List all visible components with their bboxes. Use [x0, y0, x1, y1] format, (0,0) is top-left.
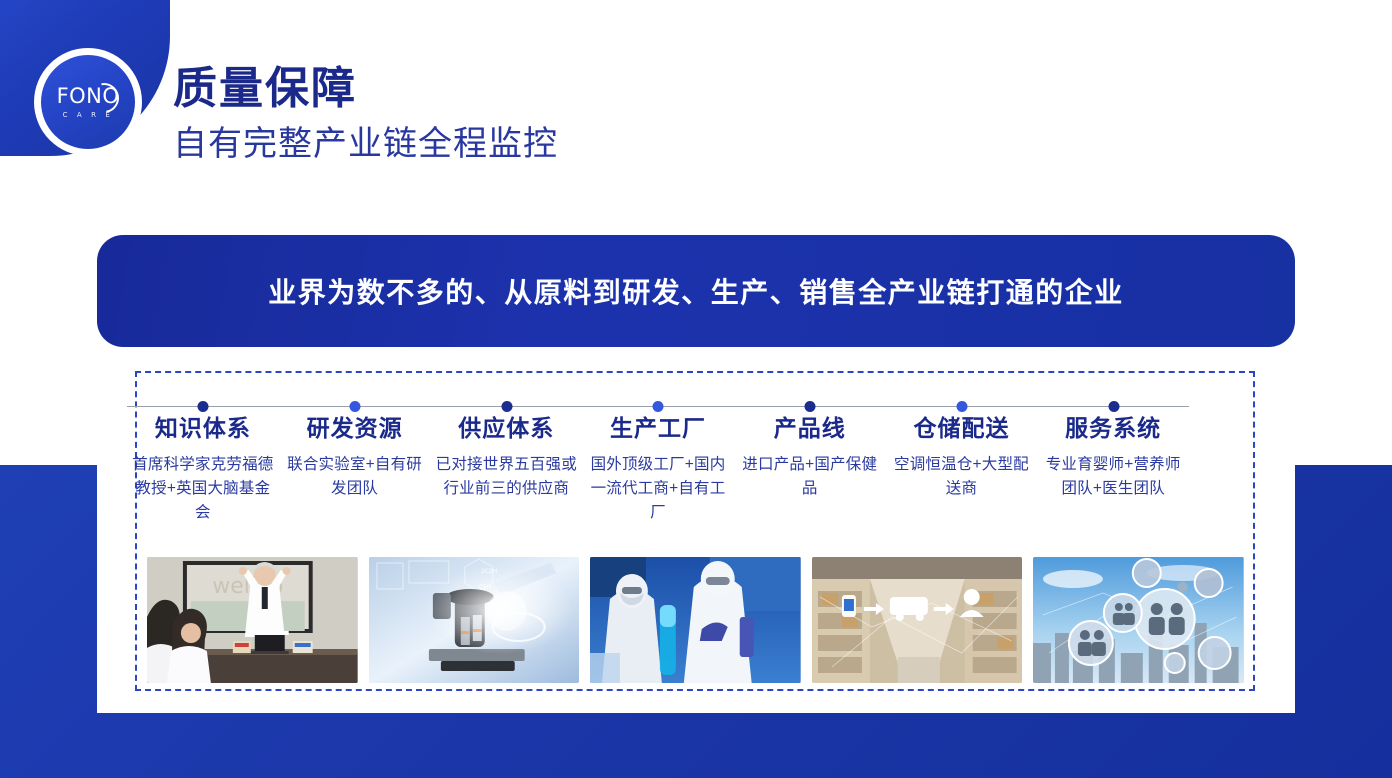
column-title: 生产工厂	[586, 414, 730, 443]
capability-column-4: 生产工厂国外顶级工厂+国内一流代工商+自有工厂	[582, 414, 734, 525]
warehouse-logistics-photo	[812, 557, 1023, 683]
capability-column-6: 仓储配送空调恒温仓+大型配送商	[886, 414, 1038, 525]
capability-column-1: 知识体系首席科学家克劳福德教授+英国大脑基金会	[127, 414, 279, 525]
column-title: 研发资源	[283, 414, 427, 443]
column-title: 供应体系	[434, 414, 578, 443]
timeline-dot-4	[653, 401, 664, 412]
timeline-dot-1	[198, 401, 209, 412]
page-subtitle: 自有完整产业链全程监控	[173, 126, 973, 163]
column-description: 已对接世界五百强或行业前三的供应商	[434, 453, 578, 501]
service-network-city-photo	[1033, 557, 1244, 683]
timeline-dot-7	[1108, 401, 1119, 412]
column-description: 联合实验室+自有研发团队	[283, 453, 427, 501]
capability-columns: 知识体系首席科学家克劳福德教授+英国大脑基金会研发资源联合实验室+自有研发团队供…	[127, 414, 1189, 525]
column-description: 空调恒温仓+大型配送商	[890, 453, 1034, 501]
column-description: 进口产品+国产保健品	[738, 453, 882, 501]
column-title: 知识体系	[131, 414, 275, 443]
capability-column-5: 产品线进口产品+国产保健品	[734, 414, 886, 525]
timeline-dot-6	[956, 401, 967, 412]
headline-banner: 业界为数不多的、从原料到研发、生产、销售全产业链打通的企业	[97, 235, 1295, 347]
column-description: 专业育婴师+营养师团队+医生团队	[1041, 453, 1185, 501]
timeline-dot-2	[350, 401, 361, 412]
column-description: 国外顶级工厂+国内一流代工商+自有工厂	[586, 453, 730, 525]
column-title: 产品线	[738, 414, 882, 443]
lecture-classroom-photo: wellab	[147, 557, 358, 683]
capability-column-3: 供应体系已对接世界五百强或行业前三的供应商	[430, 414, 582, 525]
logo-blue-disc: FONO C A R E	[41, 55, 135, 149]
headline-banner-text: 业界为数不多的、从原料到研发、生产、销售全产业链打通的企业	[268, 271, 1124, 311]
timeline-dot-3	[502, 401, 513, 412]
capability-column-7: 服务系统专业育婴师+营养师团队+医生团队	[1037, 414, 1189, 525]
header-block: 质量保障 自有完整产业链全程监控	[173, 66, 973, 164]
microscope-lab-photo: 2C2H C5H	[369, 557, 580, 683]
timeline	[127, 401, 1189, 413]
capability-column-2: 研发资源联合实验室+自有研发团队	[279, 414, 431, 525]
timeline-dot-5	[804, 401, 815, 412]
clean-room-research-photo	[590, 557, 801, 683]
photo-strip: wellab	[147, 557, 1244, 683]
page-title: 质量保障	[173, 66, 973, 112]
column-title: 仓储配送	[890, 414, 1034, 443]
brand-logo: FONO C A R E	[34, 48, 142, 156]
column-title: 服务系统	[1041, 414, 1185, 443]
slide-stage: FONO C A R E 质量保障 自有完整产业链全程监控 业界为数不多的、从原…	[0, 0, 1392, 778]
column-description: 首席科学家克劳福德教授+英国大脑基金会	[131, 453, 275, 525]
